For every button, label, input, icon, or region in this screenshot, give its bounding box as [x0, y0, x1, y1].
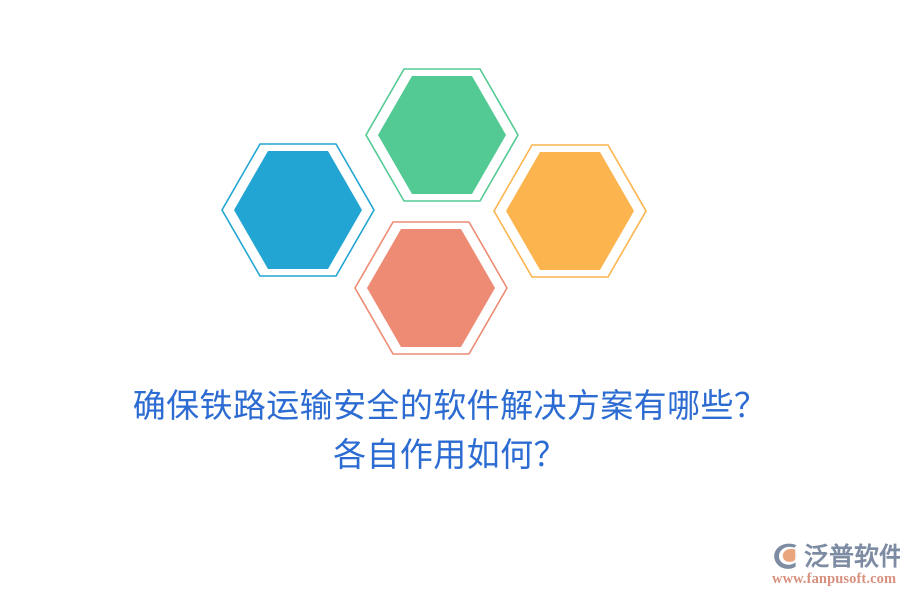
green-hexagon-fill [378, 76, 506, 194]
page-title-line-2: 各自作用如何？ [0, 432, 900, 481]
blue-hexagon-fill [234, 151, 362, 269]
brand-logo: 泛普软件 www.fanpusoft.com [772, 537, 894, 592]
brand-name: 泛普软件 [804, 544, 900, 571]
orange-hexagon-fill [506, 152, 634, 270]
page-title: 确保铁路运输安全的软件解决方案有哪些？ 各自作用如何？ [0, 383, 900, 481]
poster-canvas: 确保铁路运输安全的软件解决方案有哪些？ 各自作用如何？ 泛普软件 www.fan… [0, 0, 900, 600]
blue-hexagon [222, 144, 374, 276]
orange-hexagon [494, 145, 646, 277]
hexagon-cluster-graphic [0, 0, 900, 380]
salmon-hexagon [355, 222, 507, 354]
salmon-hexagon-fill [367, 229, 495, 347]
page-title-line-1: 确保铁路运输安全的软件解决方案有哪些？ [0, 383, 900, 432]
fanpu-swoosh-icon [772, 541, 802, 571]
green-hexagon [366, 69, 518, 201]
brand-logo-row: 泛普软件 [772, 537, 894, 571]
hexagon-cluster-svg [0, 0, 900, 380]
brand-url: www.fanpusoft.com [772, 571, 894, 588]
